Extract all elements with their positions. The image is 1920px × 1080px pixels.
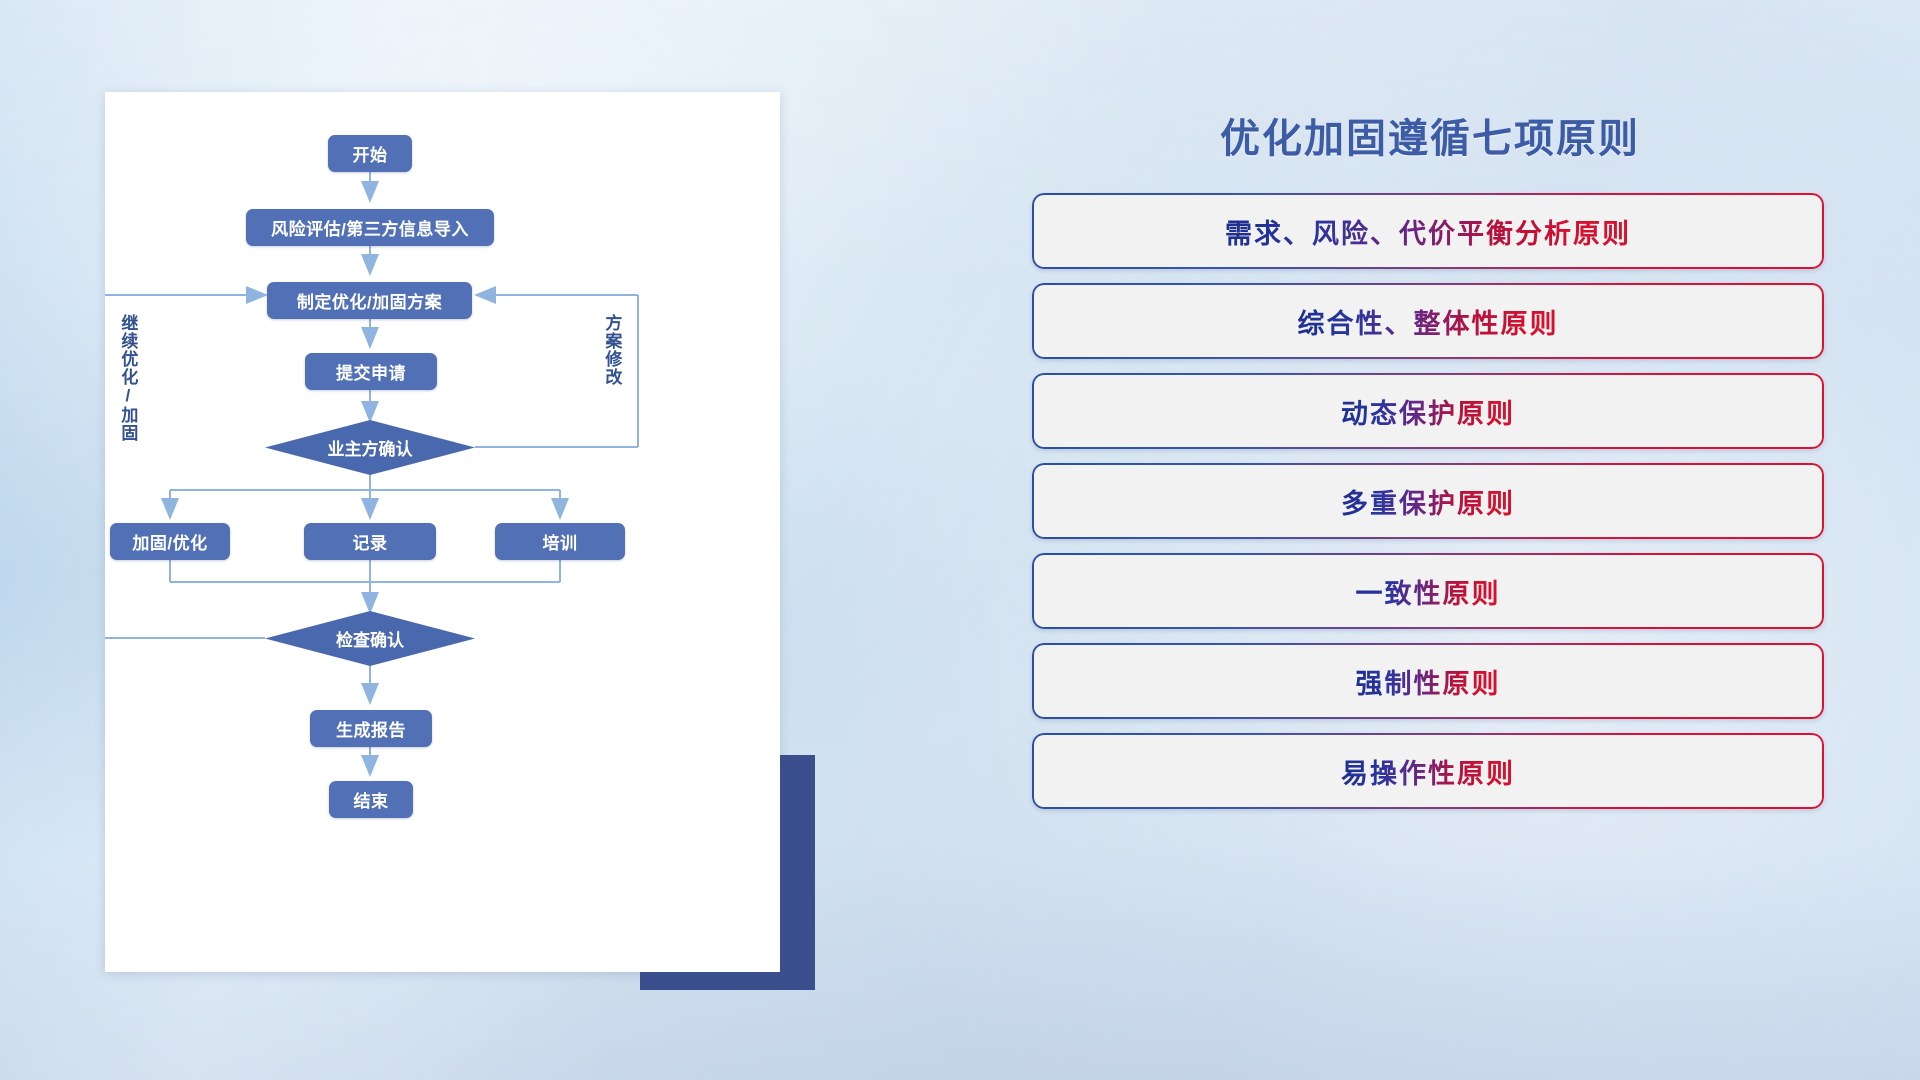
principle-card-6[interactable]: 强制性原则: [1032, 643, 1824, 719]
principle-card-2[interactable]: 综合性、整体性原则: [1032, 283, 1824, 359]
principle-card-5[interactable]: 一致性原则: [1032, 553, 1824, 629]
principle-card-3[interactable]: 动态保护原则: [1032, 373, 1824, 449]
principle-card-4[interactable]: 多重保护原则: [1032, 463, 1824, 539]
flow-node-submit: 提交申请: [305, 353, 437, 390]
flow-node-risk-assessment: 风险评估/第三方信息导入: [246, 209, 494, 246]
principle-card-5-label: 一致性原则: [1356, 572, 1501, 611]
flowchart-card: 开始 风险评估/第三方信息导入 制定优化/加固方案 提交申请 业主方确认 加固/…: [105, 92, 780, 972]
flow-decision-check-confirm: 检查确认: [265, 611, 475, 666]
flow-edge-label-right-loop: 方案修改: [602, 314, 620, 410]
flow-decision-check-confirm-label: 检查确认: [336, 626, 404, 651]
principle-card-6-label: 强制性原则: [1356, 662, 1501, 701]
principle-card-4-label: 多重保护原则: [1341, 482, 1515, 521]
flow-node-plan-label: 制定优化/加固方案: [297, 288, 442, 313]
principle-card-3-label: 动态保护原则: [1341, 392, 1515, 431]
flow-node-reinforce-label: 加固/优化: [132, 529, 207, 554]
flow-node-record: 记录: [304, 523, 436, 560]
flow-decision-owner-confirm-label: 业主方确认: [328, 435, 413, 460]
flow-decision-owner-confirm: 业主方确认: [265, 420, 475, 475]
flow-node-start-label: 开始: [353, 141, 388, 166]
flow-node-start: 开始: [328, 135, 412, 172]
principles-panel: 优化加固遵循七项原则 需求、风险、代价平衡分析原则 综合性、整体性原则 动态保护…: [1020, 80, 1840, 1010]
principle-card-7[interactable]: 易操作性原则: [1032, 733, 1824, 809]
flow-node-training-label: 培训: [543, 529, 578, 554]
principle-card-1-label: 需求、风险、代价平衡分析原则: [1225, 212, 1631, 251]
flow-node-plan: 制定优化/加固方案: [267, 282, 472, 319]
flow-node-report-label: 生成报告: [336, 716, 406, 741]
principle-card-7-label: 易操作性原则: [1341, 752, 1515, 791]
flow-node-record-label: 记录: [353, 529, 388, 554]
flow-node-end: 结束: [329, 781, 413, 818]
principle-card-2-label: 综合性、整体性原则: [1298, 302, 1559, 341]
flow-edge-label-left-loop: 继续优化/加固: [118, 314, 136, 444]
flow-node-training: 培训: [495, 523, 625, 560]
page-title: 优化加固遵循七项原则: [1020, 106, 1840, 164]
flowchart: 开始 风险评估/第三方信息导入 制定优化/加固方案 提交申请 业主方确认 加固/…: [105, 92, 780, 972]
flow-node-risk-assessment-label: 风险评估/第三方信息导入: [271, 215, 469, 240]
flow-node-end-label: 结束: [354, 787, 389, 812]
flow-node-report: 生成报告: [310, 710, 432, 747]
flow-node-reinforce: 加固/优化: [110, 523, 230, 560]
flow-node-submit-label: 提交申请: [336, 359, 406, 384]
principle-card-1[interactable]: 需求、风险、代价平衡分析原则: [1032, 193, 1824, 269]
